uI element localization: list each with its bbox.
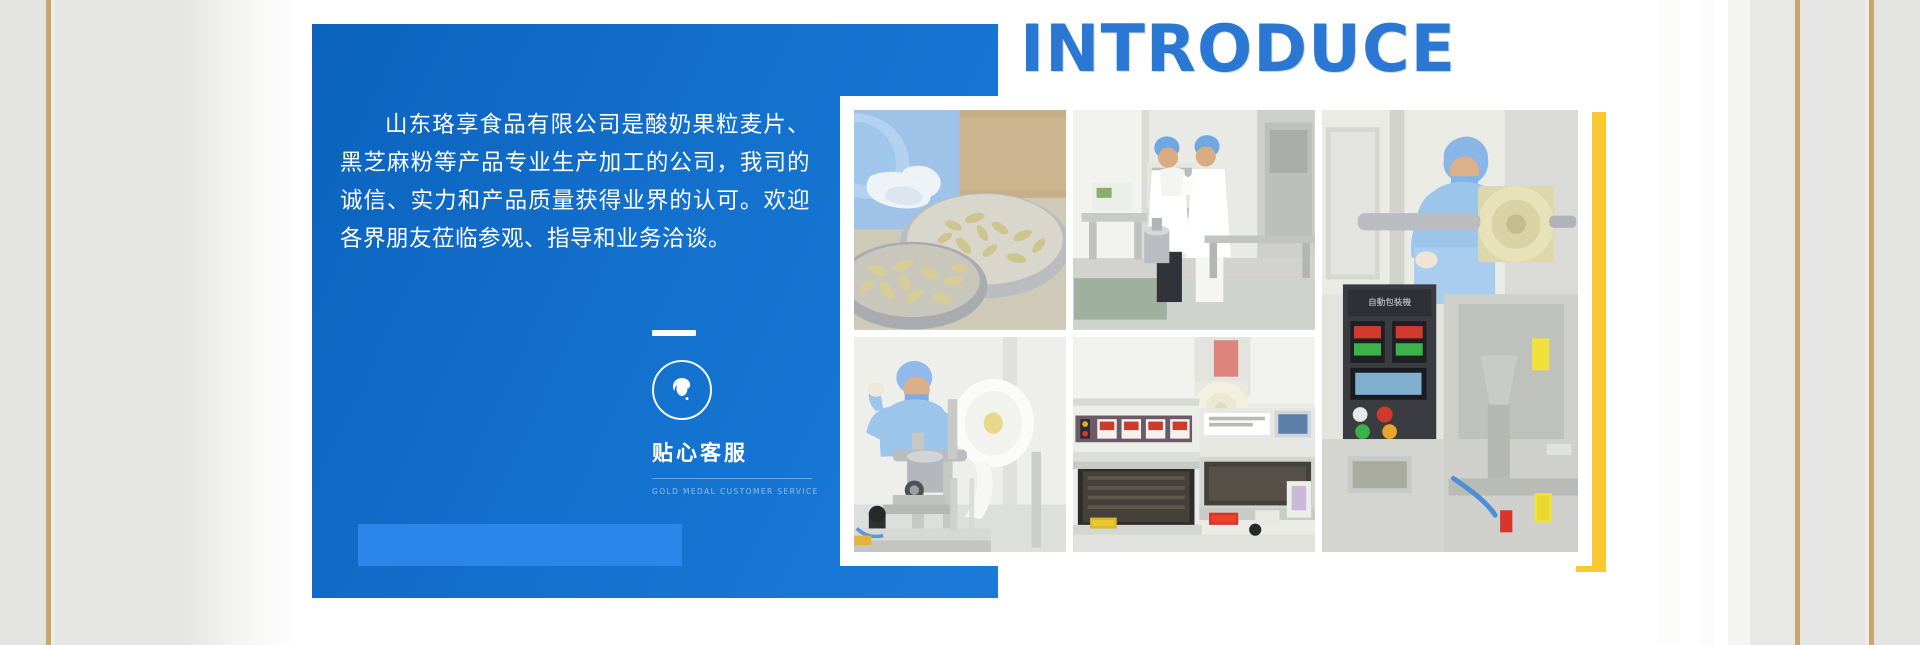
intro-paragraph: 山东珞享食品有限公司是酸奶果粒麦片、黑芝麻粉等产品专业生产加工的公司，我司的诚信… [340, 106, 810, 258]
divider-dash [652, 330, 696, 336]
wall-left-fade [0, 0, 300, 645]
feature-separator [652, 478, 812, 479]
photo-worker-loading-film-roll-on-packaging-machine[interactable]: 自動包裝機 [1322, 110, 1578, 552]
bottom-highlight-bar [358, 524, 682, 566]
wall-right-fade [1620, 0, 1920, 645]
photo-worker-handling-cereal-in-steel-bowls[interactable] [854, 110, 1066, 330]
photo-grid: 自動包裝機 [854, 110, 1578, 552]
headset-customer-service-icon [652, 360, 712, 420]
page-title: INTRODUCE [1020, 12, 1456, 87]
feature-title: 贴心客服 [652, 437, 827, 467]
photo-two-lab-technicians-testing-equipment[interactable] [1073, 110, 1316, 330]
feature-subtitle: GOLD MEDAL CUSTOMER SERVICE [652, 487, 827, 496]
photo-automatic-sealing-conveyor-machine[interactable] [1073, 337, 1316, 552]
photo-gallery-frame: 自動包裝機 [840, 96, 1592, 566]
poster-stage: INTRODUCE 山东珞享食品有限公司是酸奶果粒麦片、黑芝麻粉等产品专业生产加… [0, 0, 1920, 645]
photo-worker-operating-filter-paper-reel-machine[interactable] [854, 337, 1066, 552]
feature-item-customer-service[interactable]: 贴心客服 GOLD MEDAL CUSTOMER SERVICE [652, 330, 827, 496]
svg-text:自動包裝機: 自動包裝機 [1369, 296, 1412, 307]
